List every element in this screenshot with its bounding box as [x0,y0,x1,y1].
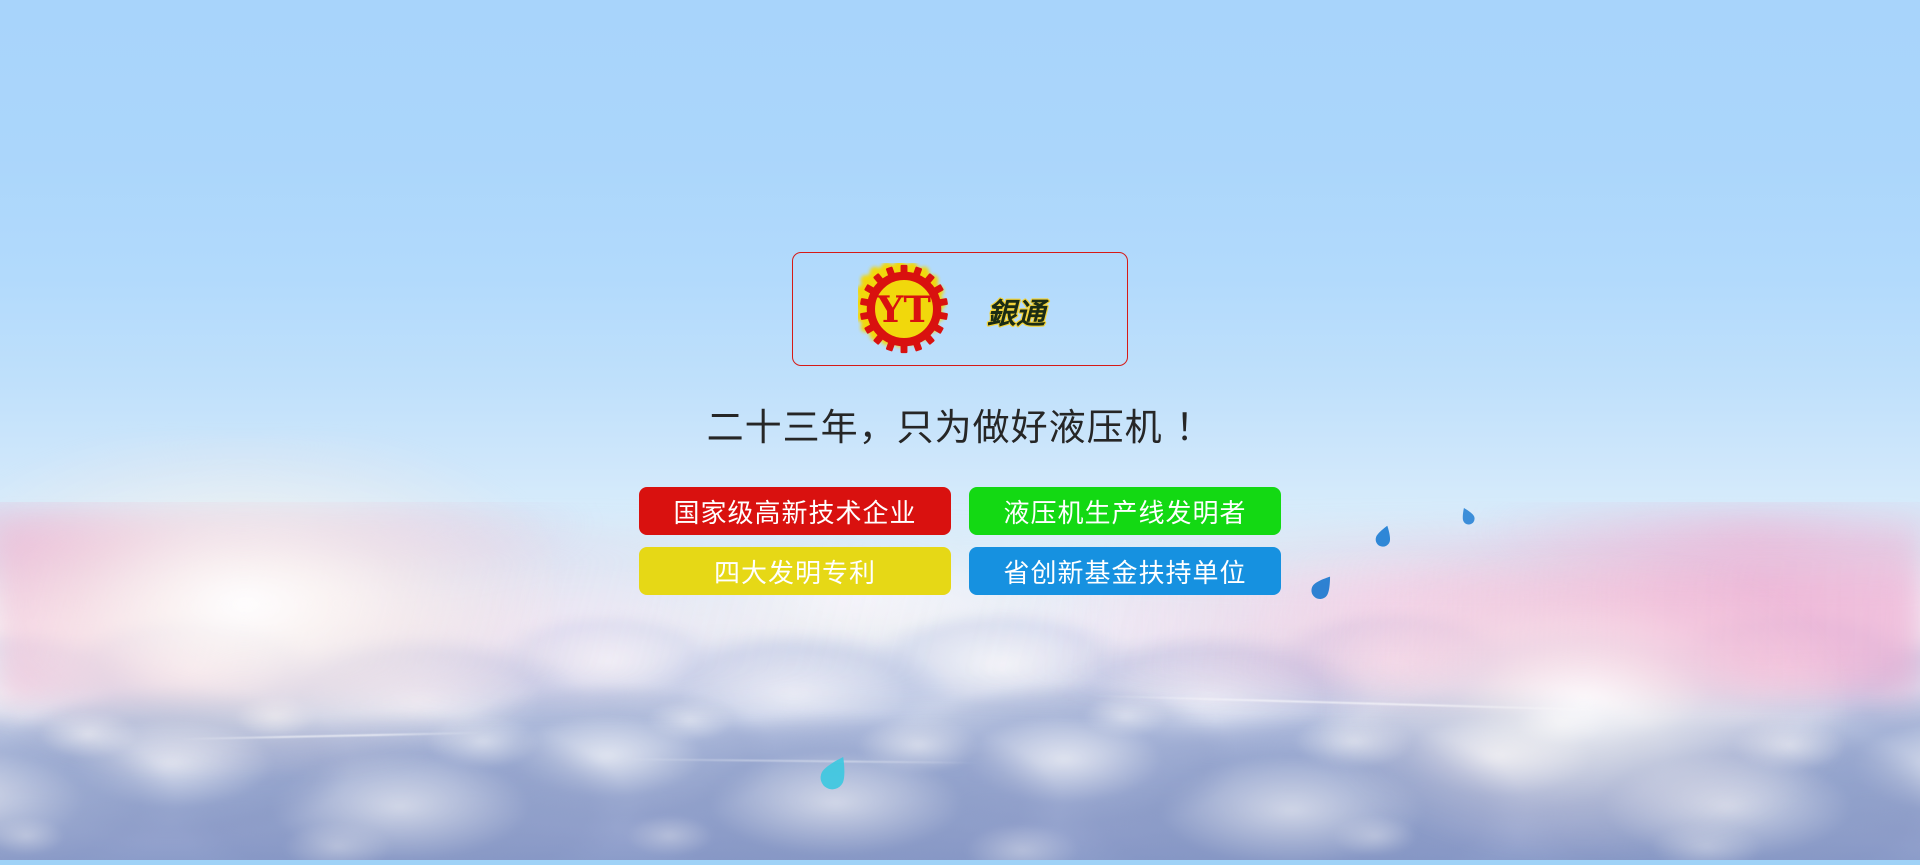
logo-frame[interactable]: YT 銀通 [792,252,1128,366]
badge-national-hi-tech[interactable]: 国家级高新技术企业 [639,487,951,535]
hero-tagline: 二十三年，只为做好液压机 ！ [707,406,1214,450]
logo-wordmark: 銀通 [970,285,1062,337]
bottom-accent-strip [0,860,1920,865]
credential-badge-grid: 国家级高新技术企业 液压机生产线发明者 四大发明专利 省创新基金扶持单位 [639,487,1281,595]
badge-provincial-fund[interactable]: 省创新基金扶持单位 [969,547,1281,595]
yt-gear-logo-icon: YT [858,263,950,355]
hero-section: YT 銀通 二十三年，只为做好液压机 ！ 国家级高新技术企业 液压机生产线发明者… [0,0,1920,595]
logo-wordmark-text: 銀通 [987,296,1050,330]
page-root: YT 銀通 二十三年，只为做好液压机 ！ 国家级高新技术企业 液压机生产线发明者… [0,0,1920,865]
logo-initials: YT [876,287,931,331]
badge-four-patents[interactable]: 四大发明专利 [639,547,951,595]
badge-production-line-pioneer[interactable]: 液压机生产线发明者 [969,487,1281,535]
